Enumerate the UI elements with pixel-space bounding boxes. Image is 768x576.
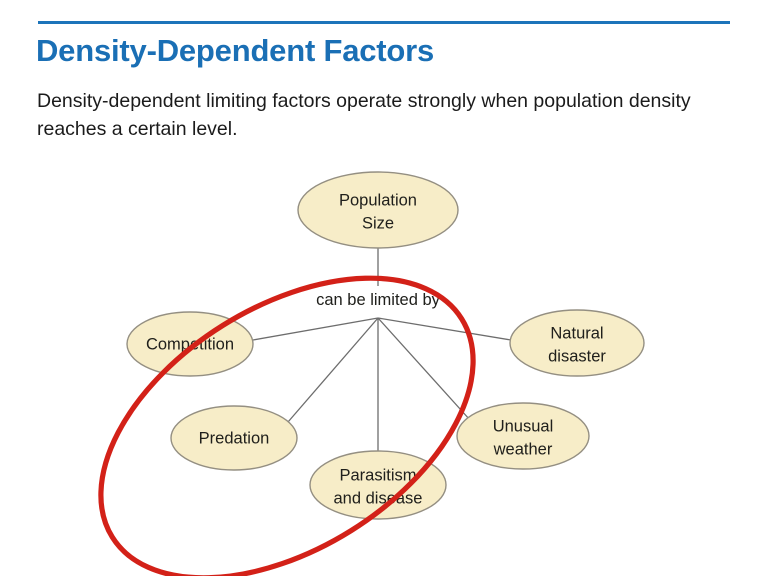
population-size-label-line1: Population [339,191,417,209]
page-title: Density-Dependent Factors [36,33,736,69]
population-size-label-line2: Size [362,214,394,232]
edge-junction-to-unusual-weather [378,318,470,420]
slide-body-text: Density-dependent limiting factors opera… [37,88,697,143]
node-predation[interactable]: Predation [171,406,297,470]
connector-label: can be limited by [316,291,441,309]
parasitism-and-disease-label-line2: and disease [334,489,423,507]
parasitism-and-disease-label-line1: Parasitism [339,466,416,484]
red-grouping-annotation-ellipse [48,216,526,576]
concept-map-diagram: Population Size can be limited by Compet… [0,150,768,576]
node-population-size[interactable]: Population Size [298,172,458,248]
natural-disaster-ellipse [510,310,644,376]
natural-disaster-label-line1: Natural [550,324,603,342]
edge-junction-to-competition [253,318,378,340]
natural-disaster-label-line2: disaster [548,347,606,365]
slide: Density-Dependent Factors Density-depend… [0,0,768,576]
population-size-ellipse [298,172,458,248]
edge-junction-to-natural-disaster [378,318,511,340]
edge-junction-to-predation [288,318,378,422]
title-accent-rule [38,21,730,24]
unusual-weather-label-line1: Unusual [493,417,554,435]
node-unusual-weather[interactable]: Unusual weather [457,403,589,469]
node-natural-disaster[interactable]: Natural disaster [510,310,644,376]
unusual-weather-ellipse [457,403,589,469]
unusual-weather-label-line2: weather [493,440,553,458]
predation-label: Predation [199,429,270,447]
